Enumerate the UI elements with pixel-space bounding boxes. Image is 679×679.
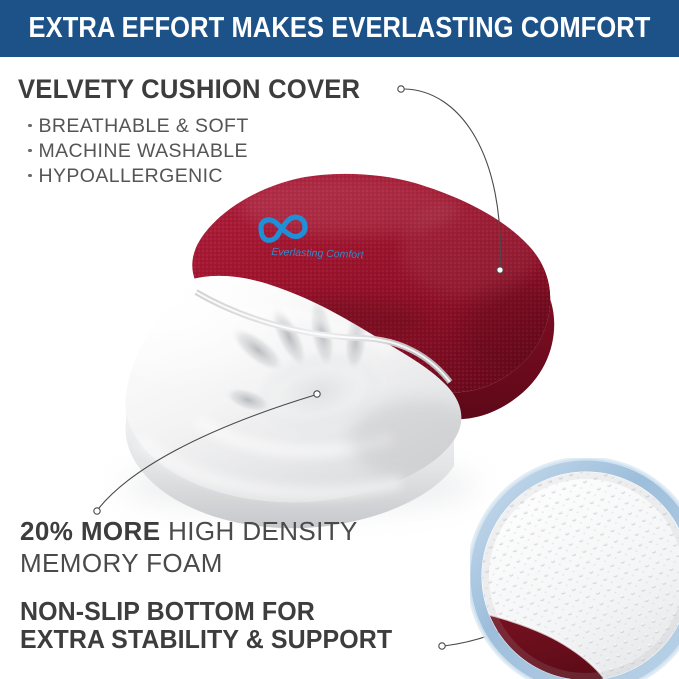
- foam-rest: HIGH DENSITY: [160, 516, 357, 546]
- bullet-dot-icon: [28, 174, 32, 178]
- cover-feature-block: VELVETY CUSHION COVER BREATHABLE & SOFT …: [18, 74, 378, 189]
- bullet-dot-icon: [28, 149, 32, 153]
- non-slip-texture-inset: [470, 458, 679, 679]
- leader-dot-cover-target: [497, 267, 503, 273]
- leader-dot-foam-text: [94, 508, 100, 514]
- bottom-headline-line1: NON-SLIP BOTTOM FOR: [20, 597, 392, 625]
- leader-dot-bottom-text: [439, 643, 445, 649]
- hand-impression-fingers: [221, 293, 372, 418]
- brand-wordmark: Everlasting Comfort: [271, 246, 365, 261]
- brand-logo: Everlasting Comfort: [260, 209, 366, 274]
- bullet-label: MACHINE WASHABLE: [39, 139, 248, 164]
- header-banner: EXTRA EFFORT MAKES EVERLASTING COMFORT: [0, 0, 679, 57]
- foam-headline-line1: 20% MORE HIGH DENSITY: [20, 515, 358, 547]
- list-item: MACHINE WASHABLE: [28, 139, 378, 164]
- bottom-headline-line2: EXTRA STABILITY & SUPPORT: [20, 625, 392, 653]
- foam-feature-block: 20% MORE HIGH DENSITY MEMORY FOAM: [20, 515, 358, 579]
- leader-line-foam: [99, 395, 315, 508]
- leader-dot-foam-target: [314, 391, 320, 397]
- memory-foam-core: [110, 268, 490, 528]
- leader-dot-cover-text: [398, 86, 404, 92]
- bullet-label: HYPOALLERGENIC: [39, 164, 223, 189]
- infinity-icon: [260, 216, 306, 242]
- bullet-label: BREATHABLE & SOFT: [39, 114, 249, 139]
- cover-heading: VELVETY CUSHION COVER: [18, 74, 360, 105]
- infographic-page: EXTRA EFFORT MAKES EVERLASTING COMFORT: [0, 0, 679, 679]
- banner-title: EXTRA EFFORT MAKES EVERLASTING COMFORT: [41, 0, 639, 57]
- bullet-dot-icon: [28, 124, 32, 128]
- bottom-feature-block: NON-SLIP BOTTOM FOR EXTRA STABILITY & SU…: [20, 597, 408, 653]
- leader-line-cover: [404, 89, 500, 268]
- foam-emphasis: 20% MORE: [20, 516, 160, 546]
- hand-impression-palm: [238, 332, 398, 452]
- cover-bullet-list: BREATHABLE & SOFT MACHINE WASHABLE HYPOA…: [28, 114, 378, 189]
- foam-headline-line2: MEMORY FOAM: [20, 547, 358, 579]
- list-item: HYPOALLERGENIC: [28, 164, 378, 189]
- list-item: BREATHABLE & SOFT: [28, 114, 378, 139]
- velvet-cover: Everlasting Comfort: [180, 165, 575, 419]
